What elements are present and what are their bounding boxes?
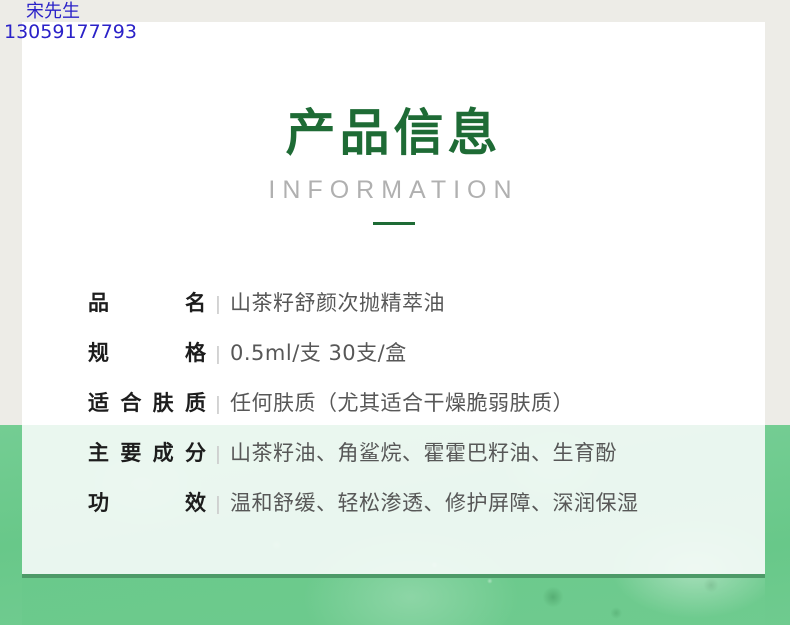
green-bleed-left: [0, 425, 22, 625]
spec-row-benefits: 功 效 | 温和舒缓、轻松渗透、修护屏障、深润保湿: [88, 487, 748, 537]
spec-value: 0.5ml/支 30支/盒: [230, 337, 748, 367]
spec-label: 品 名: [88, 287, 206, 317]
spec-separator: |: [206, 494, 230, 516]
spec-row-main-ingredients: 主要成分 | 山茶籽油、角鲨烷、霍霍巴籽油、生育酚: [88, 437, 748, 487]
spec-value: 山茶籽舒颜次抛精萃油: [230, 287, 748, 317]
spec-value: 任何肤质（尤其适合干燥脆弱肤质）: [230, 387, 748, 417]
spec-label: 适合肤质: [88, 387, 206, 417]
seller-watermark: 宋先生 13059177793: [4, 2, 137, 42]
heading-block: 产品信息 INFORMATION: [22, 22, 765, 225]
spec-separator: |: [206, 344, 230, 366]
spec-value: 山茶籽油、角鲨烷、霍霍巴籽油、生育酚: [230, 437, 748, 467]
spec-label: 主要成分: [88, 437, 206, 467]
spec-separator: |: [206, 394, 230, 416]
spec-value: 温和舒缓、轻松渗透、修护屏障、深润保湿: [230, 487, 748, 517]
spec-row-specification: 规 格 | 0.5ml/支 30支/盒: [88, 337, 748, 387]
spec-separator: |: [206, 444, 230, 466]
page-subtitle: INFORMATION: [22, 178, 765, 203]
spec-row-product-name: 品 名 | 山茶籽舒颜次抛精萃油: [88, 287, 748, 337]
spec-row-skin-type: 适合肤质 | 任何肤质（尤其适合干燥脆弱肤质）: [88, 387, 748, 437]
watermark-phone: 13059177793: [4, 22, 137, 42]
spec-label: 规 格: [88, 337, 206, 367]
content-column: 产品信息 INFORMATION 品 名 | 山茶籽舒颜次抛精萃油 规 格 | …: [22, 22, 765, 625]
page-title: 产品信息: [22, 108, 765, 158]
spec-separator: |: [206, 294, 230, 316]
title-divider-rule: [373, 222, 415, 225]
spec-table: 品 名 | 山茶籽舒颜次抛精萃油 规 格 | 0.5ml/支 30支/盒 适合肤…: [88, 287, 748, 537]
watermark-name: 宋先生: [4, 2, 137, 22]
green-bleed-right: [765, 425, 790, 625]
spec-label: 功 效: [88, 487, 206, 517]
product-info-page: 产品信息 INFORMATION 品 名 | 山茶籽舒颜次抛精萃油 规 格 | …: [0, 0, 790, 625]
